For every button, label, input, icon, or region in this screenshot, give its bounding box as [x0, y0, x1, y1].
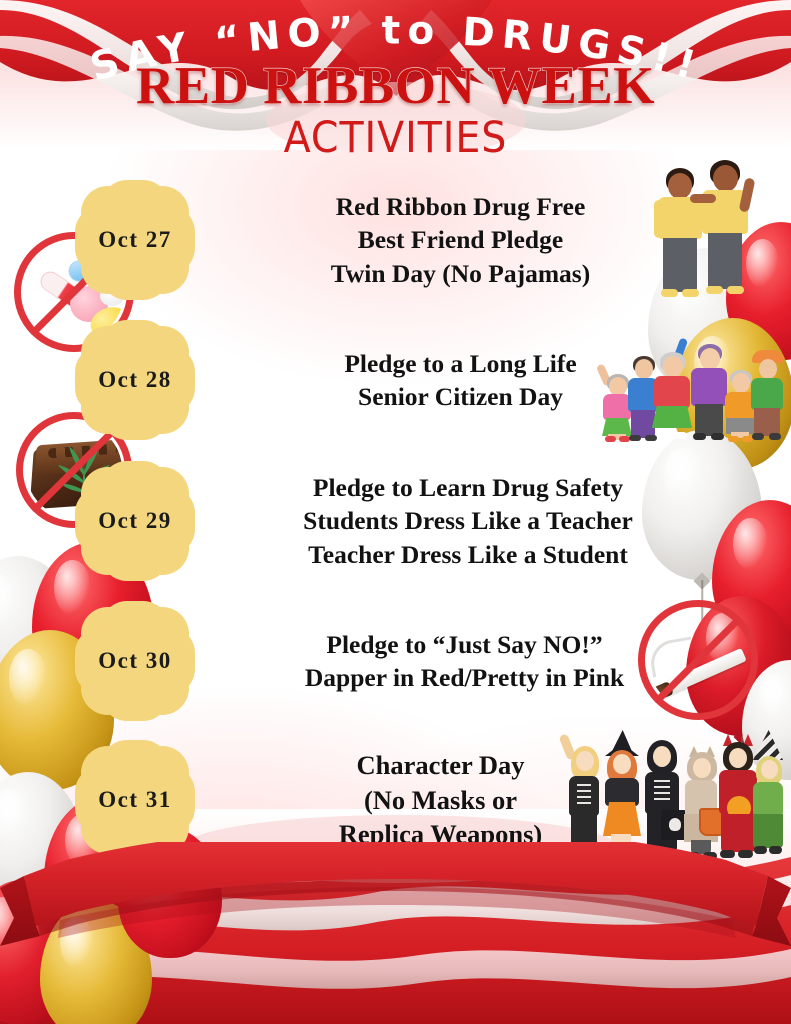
date-badge-label: Oct 30 [98, 648, 172, 674]
date-badge-oct-27: Oct 27 [75, 180, 195, 300]
activities-schedule: Oct 27 Red Ribbon Drug Free Best Friend … [0, 170, 791, 870]
activity-cell: Character Day (No Masks or Replica Weapo… [270, 748, 791, 851]
activity-text: Red Ribbon Drug Free Best Friend Pledge … [270, 190, 651, 289]
activity-line: Best Friend Pledge [270, 223, 651, 256]
date-badge-cell: Oct 30 [0, 601, 270, 721]
activity-text: Pledge to Learn Drug Safety Students Dre… [270, 471, 666, 570]
schedule-row: Oct 29 Pledge to Learn Drug Safety Stude… [0, 450, 791, 592]
activity-cell: Pledge to a Long Life Senior Citizen Day [270, 347, 791, 413]
activity-line: Students Dress Like a Teacher [270, 504, 666, 537]
date-badge-label: Oct 29 [98, 508, 172, 534]
activity-cell: Pledge to “Just Say NO!” Dapper in Red/P… [270, 628, 791, 694]
date-badge-oct-30: Oct 30 [75, 601, 195, 721]
activity-text: Pledge to “Just Say NO!” Dapper in Red/P… [270, 628, 659, 694]
say-no-to-drugs-banner [0, 842, 791, 972]
date-badge-oct-29: Oct 29 [75, 461, 195, 581]
activity-line: Character Day [270, 748, 611, 782]
schedule-row: Oct 28 Pledge to a Long Life Senior Citi… [0, 310, 791, 450]
activity-line: Twin Day (No Pajamas) [270, 257, 651, 290]
activity-line: Pledge to a Long Life [270, 347, 651, 380]
activity-line: Teacher Dress Like a Student [270, 538, 666, 571]
page-title: RED RIBBON WEEK [0, 60, 791, 113]
date-badge-cell: Oct 29 [0, 461, 270, 581]
schedule-row: Oct 27 Red Ribbon Drug Free Best Friend … [0, 170, 791, 310]
activity-text: Character Day (No Masks or Replica Weapo… [270, 748, 611, 851]
date-badge-label: Oct 31 [98, 787, 172, 813]
activity-line: Pledge to Learn Drug Safety [270, 471, 666, 504]
activity-cell: Pledge to Learn Drug Safety Students Dre… [270, 471, 791, 570]
activity-line: Pledge to “Just Say NO!” [270, 628, 659, 661]
page-subtitle: ACTIVITIES [32, 117, 760, 160]
activity-line: (No Masks or [270, 783, 611, 817]
date-badge-label: Oct 27 [98, 227, 172, 253]
schedule-row: Oct 30 Pledge to “Just Say NO!” Dapper i… [0, 592, 791, 730]
date-badge-label: Oct 28 [98, 367, 172, 393]
activity-line: Senior Citizen Day [270, 380, 651, 413]
activity-line: Dapper in Red/Pretty in Pink [270, 661, 659, 694]
activity-line: Red Ribbon Drug Free [270, 190, 651, 223]
date-badge-cell: Oct 27 [0, 180, 270, 300]
poster-title-block: RED RIBBON WEEK ACTIVITIES [0, 60, 791, 160]
date-badge-cell: Oct 28 [0, 320, 270, 440]
activity-text: Pledge to a Long Life Senior Citizen Day [270, 347, 651, 413]
date-badge-oct-28: Oct 28 [75, 320, 195, 440]
activity-cell: Red Ribbon Drug Free Best Friend Pledge … [270, 190, 791, 289]
red-ribbon-week-poster: RED RIBBON WEEK ACTIVITIES [0, 0, 791, 1024]
